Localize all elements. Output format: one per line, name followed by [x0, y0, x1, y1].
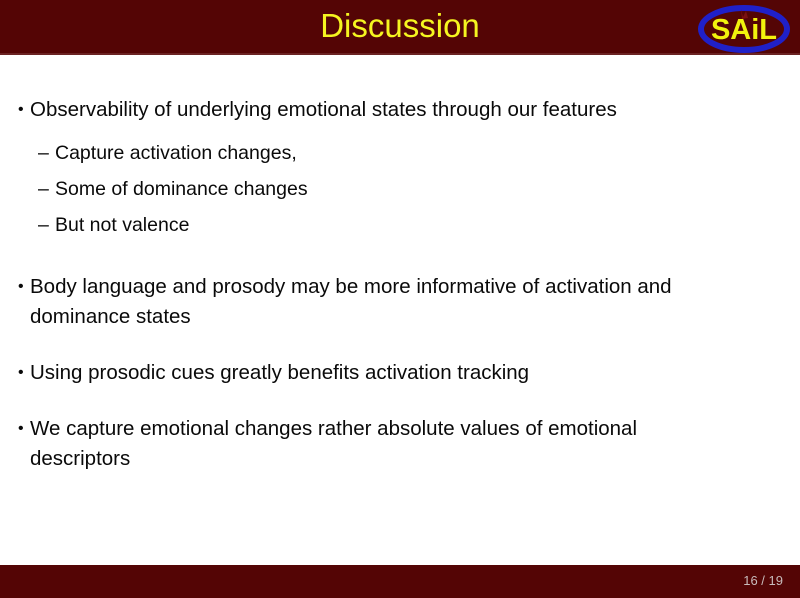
- sub-bullet-text: Some of dominance changes: [55, 174, 700, 204]
- bullet-marker-dot-icon: •: [18, 358, 30, 388]
- sub-bullet-text: But not valence: [55, 210, 700, 240]
- bullet-text: Observability of underlying emotional st…: [30, 95, 690, 125]
- bullet-marker-dot-icon: •: [18, 414, 30, 444]
- bullet-marker-dash-icon: –: [38, 138, 55, 168]
- bullet-text: Body language and prosody may be more in…: [30, 272, 690, 332]
- sail-logo: SAiL: [696, 1, 792, 53]
- spacer: [18, 338, 700, 358]
- bullet-item-observability: • Observability of underlying emotional …: [18, 95, 700, 125]
- slide-body: • Observability of underlying emotional …: [0, 55, 800, 565]
- bullet-marker-dot-icon: •: [18, 272, 30, 302]
- spacer: [18, 246, 700, 272]
- bullet-text: We capture emotional changes rather abso…: [30, 414, 690, 474]
- bullet-item-emotional-changes: • We capture emotional changes rather ab…: [18, 414, 700, 474]
- bullet-marker-dash-icon: –: [38, 210, 55, 240]
- page-title: Discussion: [0, 6, 800, 46]
- page-number: 16 / 19: [743, 572, 783, 590]
- sub-bullet-item-not-valence: – But not valence: [18, 210, 700, 240]
- sail-logo-icon: SAiL: [696, 1, 792, 53]
- bullet-marker-dash-icon: –: [38, 174, 55, 204]
- sub-bullet-item-dominance-changes: – Some of dominance changes: [18, 174, 700, 204]
- spacer: [18, 394, 700, 414]
- slide: Discussion SAiL • Observability of under…: [0, 0, 800, 598]
- bullet-item-prosodic-cues: • Using prosodic cues greatly benefits a…: [18, 358, 700, 388]
- bullet-marker-dot-icon: •: [18, 95, 30, 125]
- bullet-item-body-language: • Body language and prosody may be more …: [18, 272, 700, 332]
- slide-header-bar: Discussion: [0, 0, 800, 55]
- spacer: [18, 131, 700, 138]
- sub-bullet-item-capture-activation: – Capture activation changes,: [18, 138, 700, 168]
- slide-footer-bar: 16 / 19: [0, 565, 800, 598]
- sail-logo-text: SAiL: [711, 14, 777, 46]
- sub-bullet-text: Capture activation changes,: [55, 138, 700, 168]
- bullet-text: Using prosodic cues greatly benefits act…: [30, 358, 690, 388]
